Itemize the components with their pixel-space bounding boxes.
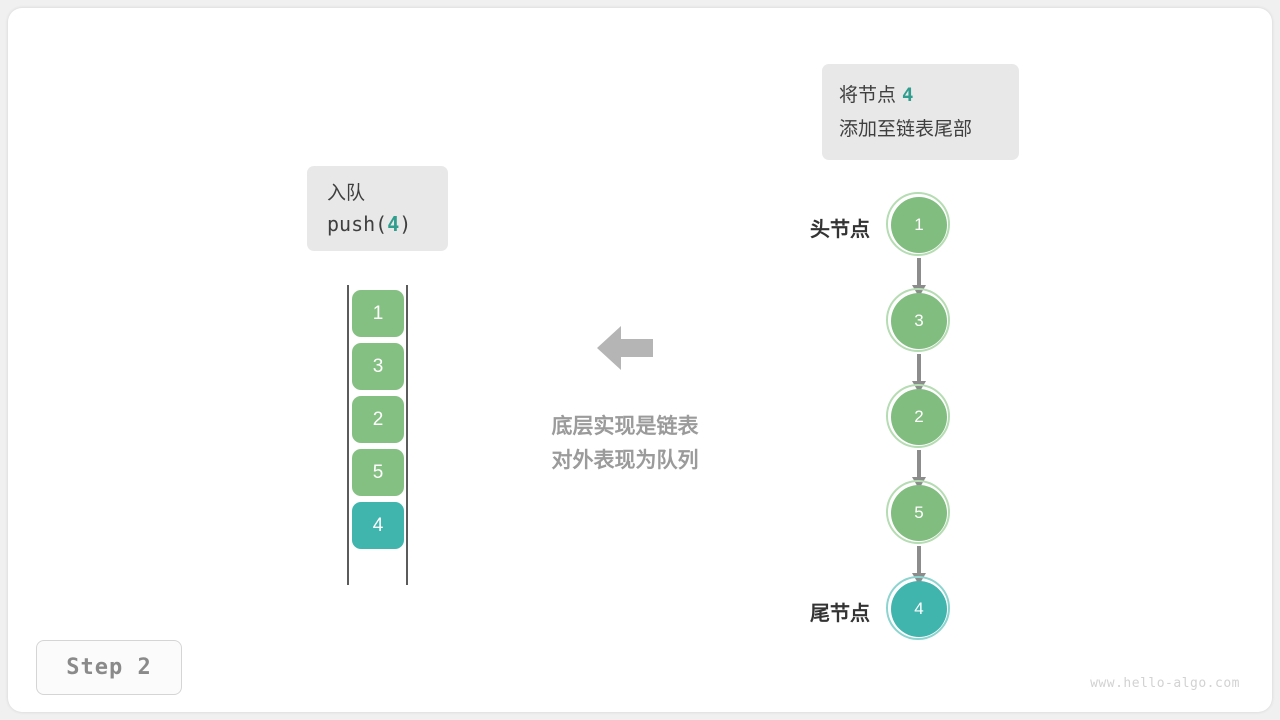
callout-append-line2: 添加至链表尾部: [839, 113, 1019, 147]
callout-append-node: 将节点4 添加至链表尾部: [822, 64, 1019, 160]
step-badge-label: Step 2: [66, 655, 151, 680]
callout-push-call: push(4): [327, 209, 448, 240]
callout-push-line1: 入队: [327, 178, 448, 209]
node-value: 4: [914, 599, 923, 619]
left-arrow-icon: [595, 322, 655, 374]
linked-list-edge: [917, 258, 921, 286]
callout-append-line1: 将节点4: [839, 78, 1019, 113]
node-value: 3: [914, 311, 923, 331]
diagram-canvas: 将节点4 添加至链表尾部 入队 push(4) 1 3 2 5 4 底层实现是链…: [0, 0, 1280, 720]
queue-cell-value: 1: [373, 303, 384, 325]
callout-push-value: 4: [387, 212, 399, 236]
node-value: 5: [914, 503, 923, 523]
tail-node-label: 尾节点: [720, 597, 870, 626]
queue-cell: 3: [352, 343, 404, 390]
queue-rail-left: [347, 285, 349, 585]
callout-append-value: 4: [896, 84, 913, 106]
queue-cell-value: 2: [373, 409, 384, 431]
middle-caption-line1: 底层实现是链表: [505, 410, 745, 444]
linked-list-node: 2: [891, 389, 947, 445]
middle-caption: 底层实现是链表 对外表现为队列: [505, 410, 745, 478]
queue-cell: 4: [352, 502, 404, 549]
callout-push-suffix: ): [399, 212, 411, 236]
step-badge: Step 2: [36, 640, 182, 695]
queue-cell: 1: [352, 290, 404, 337]
queue-cell-value: 4: [373, 515, 384, 537]
linked-list: 1 3 2 5 4 头节点 尾节点: [760, 180, 1020, 660]
callout-push-prefix: push(: [327, 212, 387, 236]
linked-list-node: 1: [891, 197, 947, 253]
queue-cell-value: 5: [373, 462, 384, 484]
linked-list-node: 4: [891, 581, 947, 637]
middle-caption-line2: 对外表现为队列: [505, 444, 745, 478]
linked-list-node: 3: [891, 293, 947, 349]
linked-list-edge: [917, 546, 921, 574]
queue-rail-right: [406, 285, 408, 585]
linked-list-node: 5: [891, 485, 947, 541]
head-node-label: 头节点: [720, 213, 870, 242]
node-value: 2: [914, 407, 923, 427]
queue-column: 1 3 2 5 4: [347, 285, 408, 585]
callout-push: 入队 push(4): [307, 166, 448, 251]
callout-append-text: 将节点: [839, 85, 896, 106]
queue-cell: 2: [352, 396, 404, 443]
linked-list-edge: [917, 354, 921, 382]
queue-cell: 5: [352, 449, 404, 496]
queue-cell-value: 3: [373, 356, 384, 378]
linked-list-edge: [917, 450, 921, 478]
watermark: www.hello-algo.com: [1040, 676, 1240, 691]
node-value: 1: [914, 215, 923, 235]
